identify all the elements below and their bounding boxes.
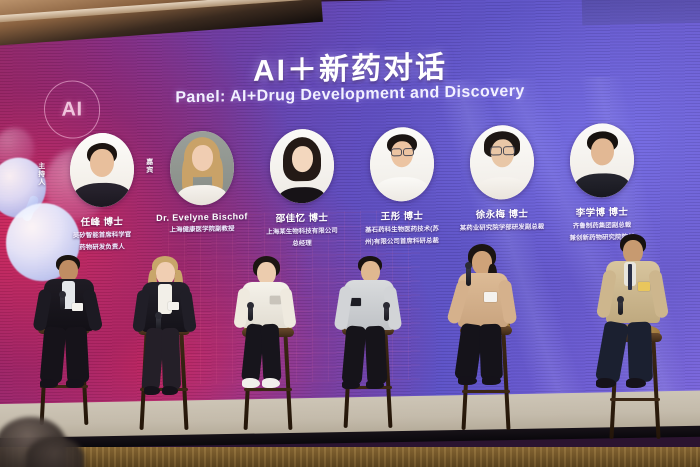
speaker-name: 任峰 博士 [54, 213, 150, 229]
panelist-seated [228, 258, 324, 428]
speaker-title-line1: 上海某生物科技有限公司 [254, 226, 350, 237]
stage-skirt [0, 447, 700, 467]
name-badge [270, 296, 281, 304]
speaker-card: 王彤 博士 基石药科生物医药技术(苏 州)有限公司首席科研总裁 [354, 126, 450, 248]
microphone-icon [60, 295, 65, 310]
speaker-card: 任峰 博士 英矽智能首席科学官 药物研发负责人 [54, 132, 150, 254]
speaker-card: Dr. Evelyne Bischof 上海健康医学院副教授 [154, 130, 250, 235]
name-badge [350, 298, 361, 306]
upper-wall-right [582, 0, 700, 25]
eyeglasses-icon [391, 148, 402, 156]
speaker-title-line2: 州)有限公司首席科研总裁 [354, 237, 450, 248]
speaker-title-line2: 药物研发负责人 [54, 242, 150, 253]
speaker-title-line1: 上海健康医学院副教授 [154, 224, 250, 235]
speaker-avatar [170, 130, 234, 205]
eyeglasses-icon [403, 148, 414, 156]
name-badge [484, 292, 497, 302]
speaker-title-line1: 英矽智能首席科学官 [54, 230, 150, 241]
necktie-icon [628, 264, 632, 290]
name-badge [72, 303, 83, 311]
name-badge [638, 282, 650, 291]
speaker-name: 徐永梅 博士 [454, 205, 550, 221]
speaker-avatar [570, 123, 634, 198]
panelist-seated [28, 255, 124, 425]
speaker-card: 李学博 博士 齐鲁制药集团副总裁 兼创新药物研究院院长 [554, 122, 650, 244]
speaker-title-line1: 基石药科生物医药技术(苏 [354, 224, 450, 235]
panelist-seated [126, 258, 222, 428]
speaker-card: 徐永梅 博士 某药业研究院学部研发副总裁 [454, 124, 550, 233]
speaker-name: 李学博 博士 [554, 203, 650, 219]
skirt-wood-texture [0, 447, 700, 467]
speaker-name: Dr. Evelyne Bischof [154, 211, 250, 223]
microphone-icon [618, 300, 623, 315]
microphone-icon [466, 266, 471, 286]
panelist-seated [330, 256, 426, 426]
speaker-avatar [370, 127, 434, 202]
speaker-name: 邵佳忆 博士 [254, 209, 350, 225]
speaker-name: 王彤 博士 [354, 207, 450, 223]
speaker-title-line1: 齐鲁制药集团副总裁 [554, 220, 650, 231]
speaker-avatar [270, 129, 334, 204]
speaker-avatar [70, 132, 134, 207]
role-label-moderator: 主持人 [36, 162, 45, 186]
speaker-title-line1: 某药业研究院学部研发副总裁 [454, 222, 550, 233]
eyeglasses-icon [490, 146, 502, 155]
eyeglasses-icon [503, 146, 515, 155]
microphone-icon [248, 306, 253, 321]
microphone-icon [384, 306, 389, 321]
speaker-title-line2: 总经理 [254, 239, 350, 250]
speaker-card: 邵佳忆 博士 上海某生物科技有限公司 总经理 [254, 128, 350, 250]
panelist-seated [590, 238, 690, 428]
panelist-seated [444, 246, 540, 426]
conference-panel-photo: AI AI＋新药对话 Panel: AI+Drug Development an… [0, 0, 700, 467]
name-badge [168, 302, 179, 310]
speaker-avatar [470, 125, 534, 200]
